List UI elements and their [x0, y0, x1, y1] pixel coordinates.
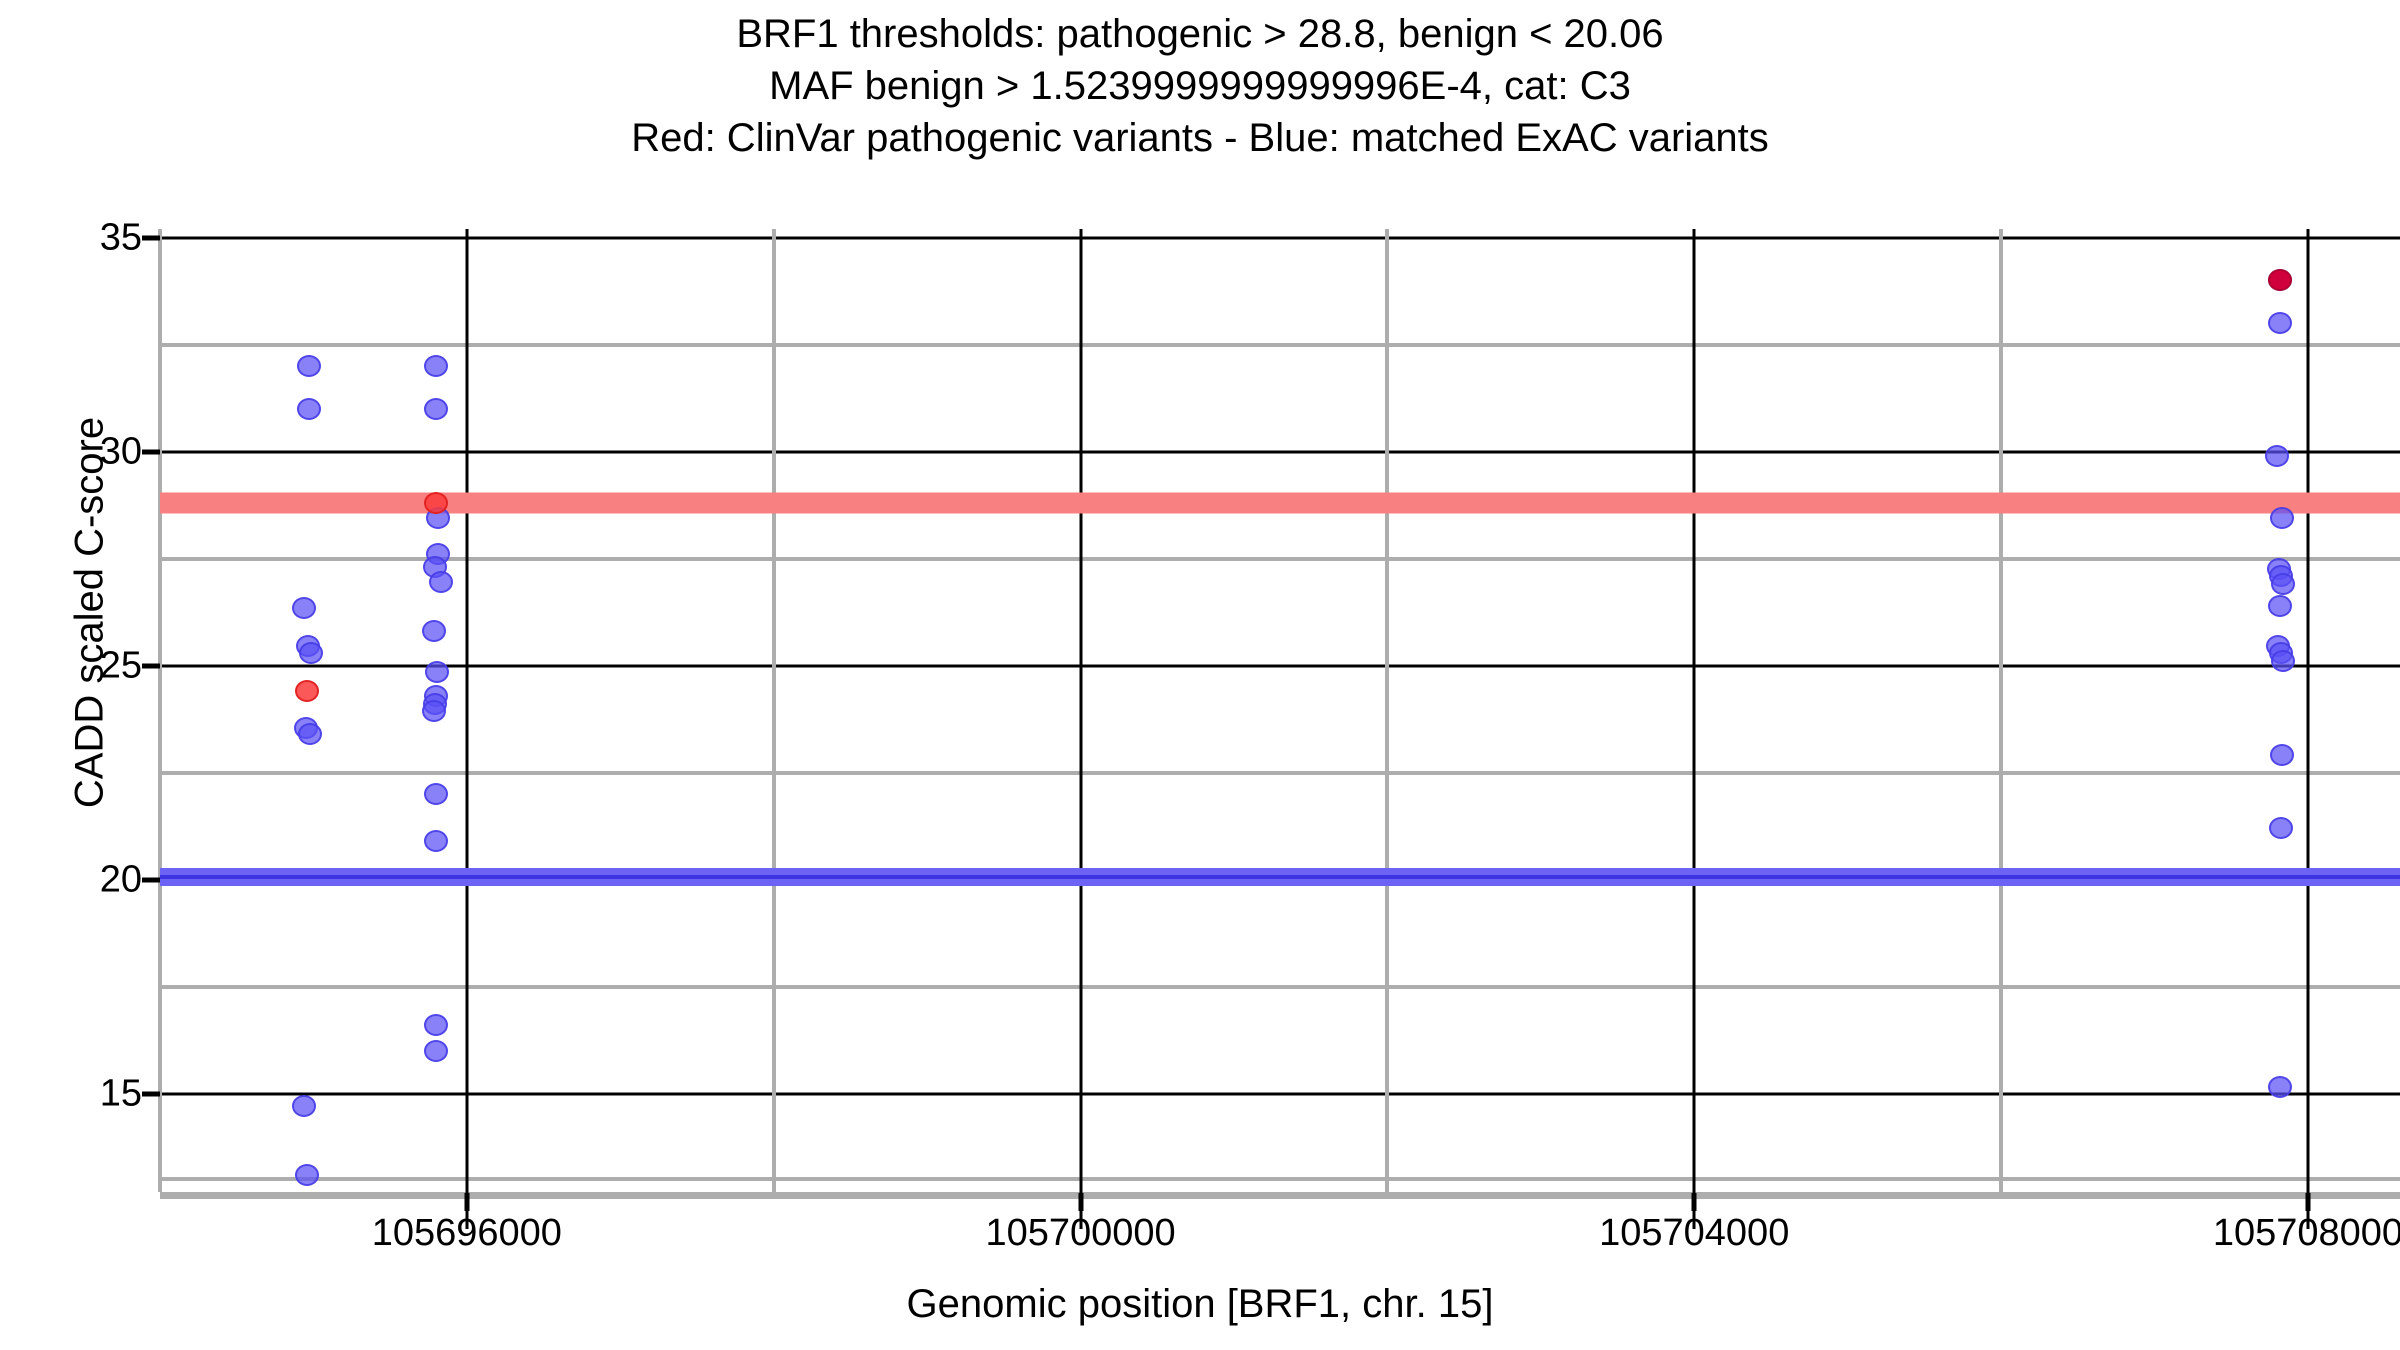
y-axis-tick-mark	[142, 1091, 160, 1096]
y-axis-tick-label: 15	[100, 1072, 142, 1115]
gridline-horizontal-major	[160, 1092, 2400, 1095]
data-point-exac	[2268, 312, 2292, 334]
x-axis-tick-label: 105704000	[1599, 1212, 1789, 1255]
threshold-line-benign	[160, 868, 2400, 886]
gridline-vertical-minor	[158, 229, 162, 1192]
x-axis-tick-label: 105700000	[985, 1212, 1175, 1255]
gridline-vertical-minor	[1385, 229, 1389, 1192]
data-point-exac	[2271, 573, 2295, 595]
data-point-exac	[292, 597, 316, 619]
x-axis-tick-mark	[464, 1193, 469, 1211]
y-axis-tick-mark	[142, 449, 160, 454]
data-point-exac	[429, 571, 453, 593]
data-point-exac	[422, 620, 446, 642]
chart-title-line-1: BRF1 thresholds: pathogenic > 28.8, beni…	[0, 8, 2400, 60]
data-point-exac	[299, 642, 323, 664]
x-axis-tick-label: 105708000	[2213, 1212, 2400, 1255]
data-point-exac	[292, 1095, 316, 1117]
gridline-horizontal-minor	[160, 1177, 2400, 1181]
gridline-horizontal-major	[160, 236, 2400, 239]
x-axis-title: Genomic position [BRF1, chr. 15]	[0, 1282, 2400, 1327]
data-point-exac	[424, 1014, 448, 1036]
data-point-exac	[2268, 595, 2292, 617]
data-point-exac	[422, 700, 446, 722]
y-axis-tick-mark	[142, 663, 160, 668]
x-axis-tick-mark	[1078, 1193, 1083, 1211]
data-point-exac	[297, 355, 321, 377]
gridline-vertical-major	[1079, 229, 1082, 1229]
data-point-exac	[424, 398, 448, 420]
data-point-exac	[424, 1040, 448, 1062]
data-point-exac	[424, 783, 448, 805]
data-point-exac	[2271, 650, 2295, 672]
gridline-horizontal-minor	[160, 343, 2400, 347]
y-axis-tick-label: 35	[100, 216, 142, 259]
data-point-pathogenic	[2268, 269, 2292, 291]
y-axis-tick-label: 20	[100, 858, 142, 901]
gridline-horizontal-minor	[160, 985, 2400, 989]
gridline-vertical-major	[2306, 229, 2309, 1229]
gridline-vertical-major	[1693, 229, 1696, 1229]
data-point-exac	[2268, 1076, 2292, 1098]
x-axis-line	[160, 1192, 2400, 1199]
data-point-exac	[298, 723, 322, 745]
y-axis-tick-label: 30	[100, 430, 142, 473]
chart-title: BRF1 thresholds: pathogenic > 28.8, beni…	[0, 8, 2400, 164]
data-point-exac	[2270, 507, 2294, 529]
data-point-exac	[424, 830, 448, 852]
threshold-line-pathogenic	[160, 492, 2400, 513]
scatter-chart: BRF1 thresholds: pathogenic > 28.8, beni…	[0, 0, 2400, 1350]
plot-area	[160, 229, 2400, 1192]
data-point-exac	[425, 661, 449, 683]
gridline-horizontal-minor	[160, 771, 2400, 775]
gridline-vertical-minor	[1999, 229, 2003, 1192]
data-point-exac	[295, 1164, 319, 1186]
y-axis-tick-label: 25	[100, 644, 142, 687]
x-axis-tick-mark	[1692, 1193, 1697, 1211]
chart-title-line-2: MAF benign > 1.5239999999999996E-4, cat:…	[0, 60, 2400, 112]
data-point-exac	[2270, 744, 2294, 766]
gridline-horizontal-major	[160, 450, 2400, 453]
y-axis-tick-mark	[142, 877, 160, 882]
gridline-vertical-minor	[772, 229, 776, 1192]
data-point-exac	[424, 355, 448, 377]
data-point-pathogenic	[295, 680, 319, 702]
x-axis-tick-label: 105696000	[372, 1212, 562, 1255]
data-point-exac	[297, 398, 321, 420]
chart-title-line-3: Red: ClinVar pathogenic variants - Blue:…	[0, 112, 2400, 164]
y-axis-tick-mark	[142, 235, 160, 240]
gridline-horizontal-minor	[160, 557, 2400, 561]
gridline-vertical-major	[465, 229, 468, 1229]
data-point-exac	[2269, 817, 2293, 839]
gridline-horizontal-major	[160, 664, 2400, 667]
data-point-pathogenic	[424, 492, 448, 514]
data-point-exac	[2265, 445, 2289, 467]
x-axis-tick-mark	[2305, 1193, 2310, 1211]
